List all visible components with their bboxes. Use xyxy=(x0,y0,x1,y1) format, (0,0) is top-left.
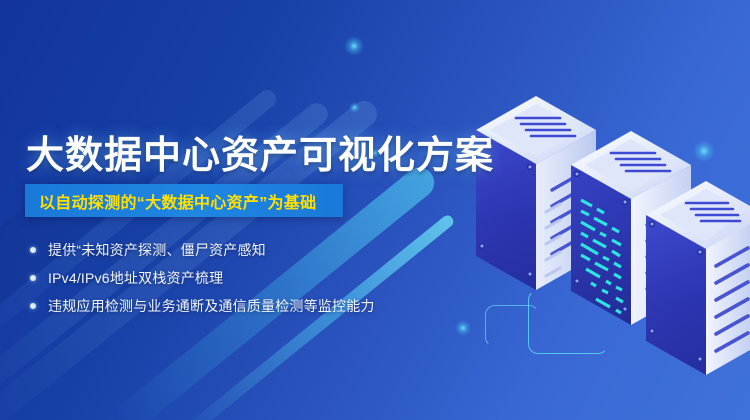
feature-bullet-list: 提供“未知资产探测、僵尸资产感知 IPv4/IPv6地址双栈资产梳理 违规应用检… xyxy=(30,236,450,320)
server-rack-3 xyxy=(646,181,750,375)
bullet-dot-icon xyxy=(30,303,36,309)
list-item: IPv4/IPv6地址双栈资产梳理 xyxy=(30,264,450,292)
bullet-text: 违规应用检测与业务通断及通信质量检测等监控能力 xyxy=(48,296,375,316)
bullet-dot-icon xyxy=(30,275,36,281)
banner-title: 大数据中心资产可视化方案 xyxy=(26,124,494,179)
bullet-dot-icon xyxy=(30,247,36,253)
list-item: 提供“未知资产探测、僵尸资产感知 xyxy=(30,236,450,264)
subtitle-banner: 以自动探测的“大数据中心资产”为基础 xyxy=(25,184,343,217)
bullet-text: 提供“未知资产探测、僵尸资产感知 xyxy=(48,240,266,260)
banner-text-content: 大数据中心资产可视化方案 以自动探测的“大数据中心资产”为基础 提供“未知资产探… xyxy=(0,0,470,420)
bullet-text: IPv4/IPv6地址双栈资产梳理 xyxy=(48,268,223,288)
promo-banner: 大数据中心资产可视化方案 以自动探测的“大数据中心资产”为基础 提供“未知资产探… xyxy=(0,0,750,420)
list-item: 违规应用检测与业务通断及通信质量检测等监控能力 xyxy=(30,292,450,320)
subtitle-text: 以自动探测的“大数据中心资产”为基础 xyxy=(25,189,316,213)
